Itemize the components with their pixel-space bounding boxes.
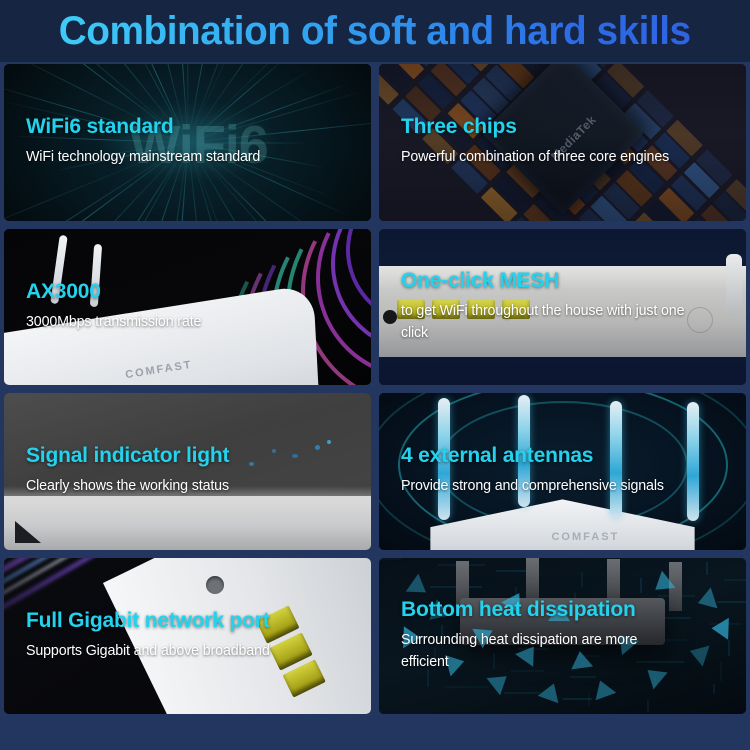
card-title: One-click MESH — [401, 269, 732, 293]
card-subtitle: to get WiFi throughout the house with ju… — [401, 300, 686, 345]
page-header: Combination of soft and hard skills — [0, 0, 750, 62]
card-text-block: Signal indicator light Clearly shows the… — [26, 444, 357, 498]
feature-card-ax3000[interactable]: COMFAST AX3000 3000Mbps transmission rat… — [4, 229, 371, 386]
corner-shadow-graphic — [15, 521, 41, 543]
card-text-block: WiFi6 standard WiFi technology mainstrea… — [26, 115, 357, 169]
card-title: WiFi6 standard — [26, 115, 357, 139]
card-title: 4 external antennas — [401, 444, 732, 468]
circuit-trace — [581, 572, 583, 588]
card-subtitle: Clearly shows the working status — [26, 476, 340, 499]
card-subtitle: 3000Mbps transmission rate — [26, 311, 340, 334]
card-title: AX3000 — [26, 280, 357, 304]
feature-card-grid: WiFi6 WiFi6 standard WiFi technology mai… — [4, 64, 746, 714]
card-subtitle: WiFi technology mainstream standard — [26, 147, 340, 170]
circuit-trace — [713, 684, 715, 693]
card-text-block: Bottom heat dissipation Surrounding heat… — [401, 598, 732, 674]
card-text-block: 4 external antennas Provide strong and c… — [401, 444, 732, 498]
circuit-trace — [504, 692, 541, 694]
router-button-graphic — [383, 310, 397, 324]
circuit-trace — [563, 698, 592, 700]
card-title: Full Gigabit network port — [26, 609, 357, 633]
feature-card-three-chips[interactable]: MediaTek Three chips Powerful combinatio… — [379, 64, 746, 221]
card-title: Bottom heat dissipation — [401, 598, 732, 622]
circuit-trace — [640, 578, 642, 594]
card-subtitle: Powerful combination of three core engin… — [401, 147, 715, 170]
circuit-trace — [647, 700, 649, 713]
feature-card-four-external-antennas[interactable]: COMFAST 4 external antennas Provide stro… — [379, 393, 746, 550]
circuit-trace — [724, 579, 746, 581]
card-subtitle: Supports Gigabit and above broadband — [26, 640, 340, 663]
card-text-block: Three chips Powerful combination of thre… — [401, 115, 732, 169]
card-text-block: AX3000 3000Mbps transmission rate — [26, 280, 357, 334]
card-subtitle: Surrounding heat dissipation are more ef… — [401, 629, 686, 674]
feature-card-bottom-heat-dissipation[interactable]: Bottom heat dissipation Surrounding heat… — [379, 558, 746, 715]
feature-card-wifi6-standard[interactable]: WiFi6 WiFi6 standard WiFi technology mai… — [4, 64, 371, 221]
circuit-trace — [379, 558, 401, 560]
circuit-trace — [570, 676, 596, 678]
card-text-block: Full Gigabit network port Supports Gigab… — [26, 609, 357, 663]
infographic-page: Combination of soft and hard skills WiFi… — [0, 0, 750, 750]
card-title: Three chips — [401, 115, 732, 139]
card-title: Signal indicator light — [26, 444, 357, 468]
circuit-trace — [706, 562, 708, 575]
feature-card-one-click-mesh[interactable]: One-click MESH to get WiFi throughout th… — [379, 229, 746, 386]
circuit-trace — [445, 686, 489, 688]
feature-card-full-gigabit-network-port[interactable]: Full Gigabit network port Supports Gigab… — [4, 558, 371, 715]
router-surface-graphic — [4, 496, 371, 549]
page-title: Combination of soft and hard skills — [59, 9, 691, 54]
card-text-block: One-click MESH to get WiFi throughout th… — [401, 269, 732, 345]
brand-logo-comfast: COMFAST — [551, 531, 619, 543]
card-subtitle: Provide strong and comprehensive signals — [401, 476, 715, 499]
feature-card-signal-indicator-light[interactable]: Signal indicator light Clearly shows the… — [4, 393, 371, 550]
led-indicator — [327, 440, 331, 444]
